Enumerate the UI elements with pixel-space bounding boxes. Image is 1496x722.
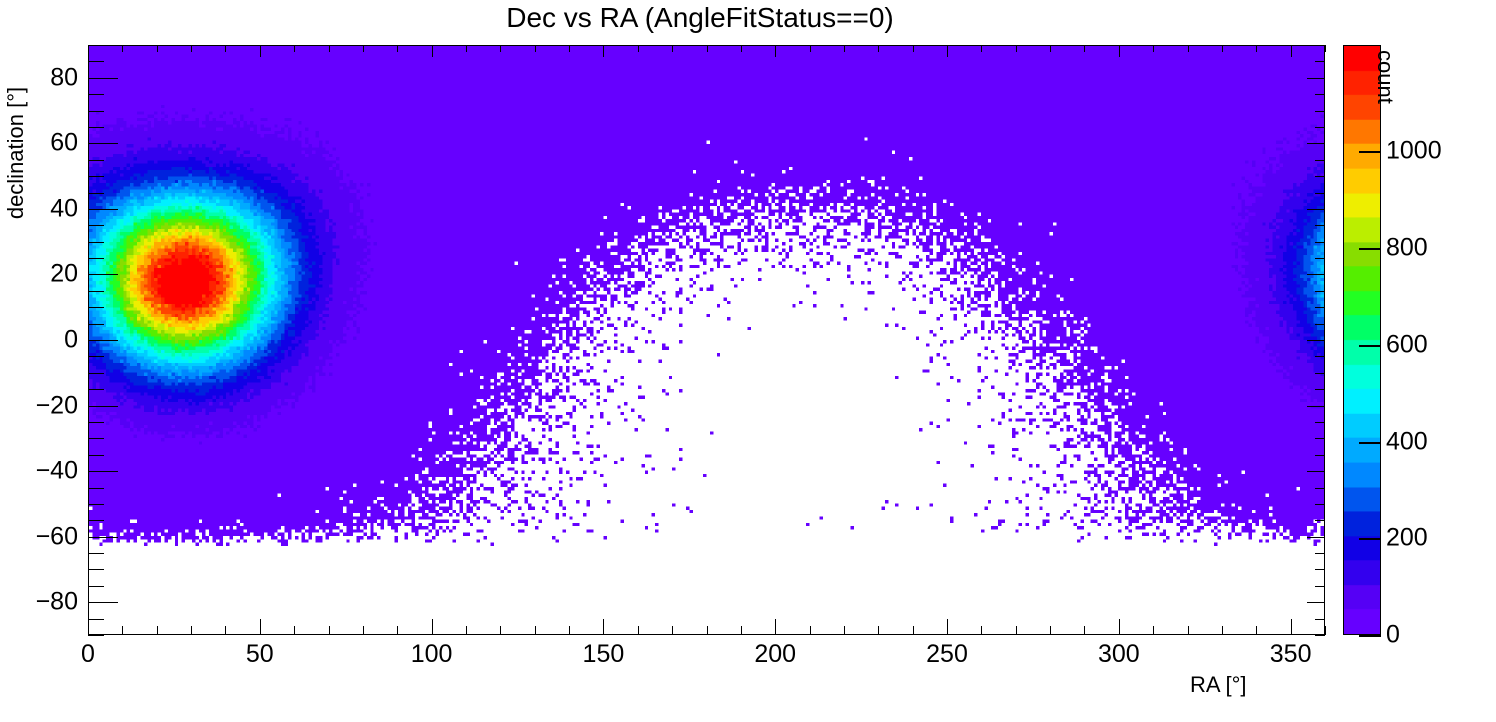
y-right-tick bbox=[1315, 422, 1325, 423]
y-minor-tick bbox=[88, 373, 104, 374]
x-top-tick bbox=[844, 45, 845, 52]
y-minor-tick bbox=[88, 422, 104, 423]
x-tick-label: 300 bbox=[1098, 640, 1140, 669]
y-minor-tick bbox=[88, 111, 104, 112]
y-minor-tick bbox=[88, 307, 104, 308]
y-right-tick bbox=[1315, 553, 1325, 554]
x-top-tick bbox=[878, 45, 879, 52]
x-minor-tick bbox=[1325, 626, 1326, 635]
y-right-tick bbox=[1315, 45, 1325, 46]
x-minor-tick bbox=[157, 626, 158, 635]
x-top-tick bbox=[638, 45, 639, 52]
x-top-tick bbox=[122, 45, 123, 52]
y-right-tick bbox=[1315, 258, 1325, 259]
y-right-tick bbox=[1307, 143, 1325, 144]
y-right-tick bbox=[1315, 242, 1325, 243]
y-minor-tick bbox=[88, 619, 104, 620]
x-major-tick bbox=[260, 619, 261, 635]
x-top-tick bbox=[1084, 45, 1085, 52]
x-major-tick bbox=[947, 619, 948, 635]
y-right-tick bbox=[1315, 438, 1325, 439]
x-minor-tick bbox=[741, 626, 742, 635]
y-tick-label: 20 bbox=[0, 260, 78, 289]
y-right-tick bbox=[1315, 307, 1325, 308]
y-minor-tick bbox=[88, 324, 104, 325]
x-top-tick bbox=[157, 45, 158, 52]
y-right-tick bbox=[1315, 389, 1325, 390]
y-minor-tick bbox=[88, 389, 104, 390]
y-minor-tick bbox=[88, 61, 104, 62]
y-right-tick bbox=[1315, 504, 1325, 505]
y-right-tick bbox=[1315, 225, 1325, 226]
y-minor-tick bbox=[88, 356, 104, 357]
x-tick-label: 0 bbox=[81, 640, 95, 669]
x-tick-label: 250 bbox=[926, 640, 968, 669]
x-top-tick bbox=[913, 45, 914, 52]
y-right-tick bbox=[1315, 635, 1325, 636]
x-top-tick bbox=[191, 45, 192, 52]
x-tick-label: 100 bbox=[411, 640, 453, 669]
x-top-tick bbox=[672, 45, 673, 52]
x-minor-tick bbox=[535, 626, 536, 635]
y-major-tick bbox=[88, 209, 118, 210]
heatmap-image bbox=[89, 46, 1324, 634]
y-right-tick bbox=[1307, 340, 1325, 341]
x-top-tick bbox=[225, 45, 226, 52]
x-minor-tick bbox=[122, 626, 123, 635]
colorbar-title: count bbox=[1372, 50, 1398, 160]
colorbar-tick bbox=[1359, 248, 1381, 250]
colorbar-tick bbox=[1359, 345, 1381, 347]
y-minor-tick bbox=[88, 258, 104, 259]
y-minor-tick bbox=[88, 504, 104, 505]
y-right-tick bbox=[1315, 324, 1325, 325]
plot-frame bbox=[88, 45, 1325, 635]
x-top-tick bbox=[1188, 45, 1189, 52]
x-top-tick bbox=[1222, 45, 1223, 52]
y-minor-tick bbox=[88, 455, 104, 456]
y-right-tick bbox=[1315, 127, 1325, 128]
x-top-tick bbox=[466, 45, 467, 52]
y-right-tick bbox=[1315, 455, 1325, 456]
x-minor-tick bbox=[1016, 626, 1017, 635]
x-minor-tick bbox=[981, 626, 982, 635]
y-minor-tick bbox=[88, 553, 104, 554]
y-major-tick bbox=[88, 143, 118, 144]
y-right-tick bbox=[1315, 291, 1325, 292]
y-right-tick bbox=[1315, 160, 1325, 161]
y-right-tick bbox=[1315, 488, 1325, 489]
y-minor-tick bbox=[88, 225, 104, 226]
y-minor-tick bbox=[88, 635, 104, 636]
y-right-tick bbox=[1315, 356, 1325, 357]
x-minor-tick bbox=[500, 626, 501, 635]
colorbar-tick-label: 400 bbox=[1386, 427, 1428, 456]
y-right-tick bbox=[1315, 586, 1325, 587]
y-tick-label: −80 bbox=[0, 588, 78, 617]
x-minor-tick bbox=[1222, 626, 1223, 635]
y-minor-tick bbox=[88, 94, 104, 95]
y-right-tick bbox=[1307, 406, 1325, 407]
x-major-tick bbox=[775, 619, 776, 635]
x-tick-label: 350 bbox=[1270, 640, 1312, 669]
x-major-tick bbox=[1119, 619, 1120, 635]
y-minor-tick bbox=[88, 488, 104, 489]
y-right-tick bbox=[1307, 78, 1325, 79]
x-top-tick bbox=[535, 45, 536, 52]
y-major-tick bbox=[88, 340, 118, 341]
colorbar-tick bbox=[1359, 442, 1381, 444]
colorbar-tick-label: 0 bbox=[1386, 621, 1400, 650]
y-right-tick bbox=[1315, 111, 1325, 112]
x-minor-tick bbox=[1050, 626, 1051, 635]
y-minor-tick bbox=[88, 45, 104, 46]
x-top-tick bbox=[775, 45, 776, 57]
x-minor-tick bbox=[638, 626, 639, 635]
y-minor-tick bbox=[88, 520, 104, 521]
x-minor-tick bbox=[810, 626, 811, 635]
y-right-tick bbox=[1307, 602, 1325, 603]
colorbar-tick-label: 600 bbox=[1386, 330, 1428, 359]
x-minor-tick bbox=[878, 626, 879, 635]
x-top-tick bbox=[1325, 45, 1326, 52]
y-major-tick bbox=[88, 537, 118, 538]
colorbar-tick-label: 800 bbox=[1386, 234, 1428, 263]
x-minor-tick bbox=[294, 626, 295, 635]
x-top-tick bbox=[88, 45, 89, 57]
y-right-tick bbox=[1307, 209, 1325, 210]
x-top-tick bbox=[1016, 45, 1017, 52]
x-minor-tick bbox=[1153, 626, 1154, 635]
y-minor-tick bbox=[88, 176, 104, 177]
x-minor-tick bbox=[672, 626, 673, 635]
x-top-tick bbox=[981, 45, 982, 52]
x-top-tick bbox=[363, 45, 364, 52]
x-minor-tick bbox=[466, 626, 467, 635]
x-minor-tick bbox=[1188, 626, 1189, 635]
x-top-tick bbox=[707, 45, 708, 52]
y-right-tick bbox=[1315, 193, 1325, 194]
colorbar-tick bbox=[1359, 538, 1381, 540]
y-axis-title: declination [°] bbox=[3, 53, 29, 253]
y-right-tick bbox=[1315, 176, 1325, 177]
x-minor-tick bbox=[707, 626, 708, 635]
colorbar-tick-label: 200 bbox=[1386, 524, 1428, 553]
x-minor-tick bbox=[363, 626, 364, 635]
y-minor-tick bbox=[88, 569, 104, 570]
plot-canvas: Dec vs RA (AngleFitStatus==0) 0501001502… bbox=[0, 0, 1496, 722]
x-tick-label: 150 bbox=[583, 640, 625, 669]
y-major-tick bbox=[88, 602, 118, 603]
x-minor-tick bbox=[225, 626, 226, 635]
y-right-tick bbox=[1315, 373, 1325, 374]
y-tick-label: −20 bbox=[0, 391, 78, 420]
x-top-tick bbox=[1256, 45, 1257, 52]
y-right-tick bbox=[1307, 537, 1325, 538]
y-minor-tick bbox=[88, 127, 104, 128]
x-minor-tick bbox=[397, 626, 398, 635]
y-major-tick bbox=[88, 274, 118, 275]
x-top-tick bbox=[260, 45, 261, 57]
x-top-tick bbox=[329, 45, 330, 52]
x-top-tick bbox=[810, 45, 811, 52]
x-minor-tick bbox=[913, 626, 914, 635]
x-major-tick bbox=[603, 619, 604, 635]
y-right-tick bbox=[1307, 471, 1325, 472]
x-tick-label: 200 bbox=[754, 640, 796, 669]
x-top-tick bbox=[397, 45, 398, 52]
y-tick-label: −40 bbox=[0, 457, 78, 486]
y-tick-label: −60 bbox=[0, 522, 78, 551]
y-right-tick bbox=[1315, 61, 1325, 62]
x-major-tick bbox=[432, 619, 433, 635]
y-tick-label: 0 bbox=[0, 326, 78, 355]
x-top-tick bbox=[1050, 45, 1051, 52]
y-minor-tick bbox=[88, 160, 104, 161]
x-minor-tick bbox=[1084, 626, 1085, 635]
y-right-tick bbox=[1315, 569, 1325, 570]
x-major-tick bbox=[1291, 619, 1292, 635]
x-minor-tick bbox=[844, 626, 845, 635]
y-minor-tick bbox=[88, 242, 104, 243]
y-minor-tick bbox=[88, 291, 104, 292]
y-right-tick bbox=[1315, 94, 1325, 95]
x-top-tick bbox=[1119, 45, 1120, 57]
y-major-tick bbox=[88, 471, 118, 472]
y-minor-tick bbox=[88, 586, 104, 587]
x-top-tick bbox=[947, 45, 948, 57]
x-top-tick bbox=[432, 45, 433, 57]
x-minor-tick bbox=[569, 626, 570, 635]
x-top-tick bbox=[294, 45, 295, 52]
y-minor-tick bbox=[88, 438, 104, 439]
y-major-tick bbox=[88, 78, 118, 79]
y-right-tick bbox=[1315, 520, 1325, 521]
x-top-tick bbox=[500, 45, 501, 52]
x-top-tick bbox=[741, 45, 742, 52]
x-top-tick bbox=[1153, 45, 1154, 52]
x-minor-tick bbox=[191, 626, 192, 635]
y-minor-tick bbox=[88, 193, 104, 194]
x-tick-label: 50 bbox=[246, 640, 274, 669]
y-major-tick bbox=[88, 406, 118, 407]
y-right-tick bbox=[1315, 619, 1325, 620]
x-minor-tick bbox=[1256, 626, 1257, 635]
x-top-tick bbox=[603, 45, 604, 57]
colorbar-tick bbox=[1359, 635, 1381, 637]
x-major-tick bbox=[88, 619, 89, 635]
x-top-tick bbox=[569, 45, 570, 52]
plot-title: Dec vs RA (AngleFitStatus==0) bbox=[0, 2, 1400, 34]
x-minor-tick bbox=[329, 626, 330, 635]
x-axis-title: RA [°] bbox=[1190, 672, 1246, 698]
x-top-tick bbox=[1291, 45, 1292, 57]
y-right-tick bbox=[1307, 274, 1325, 275]
